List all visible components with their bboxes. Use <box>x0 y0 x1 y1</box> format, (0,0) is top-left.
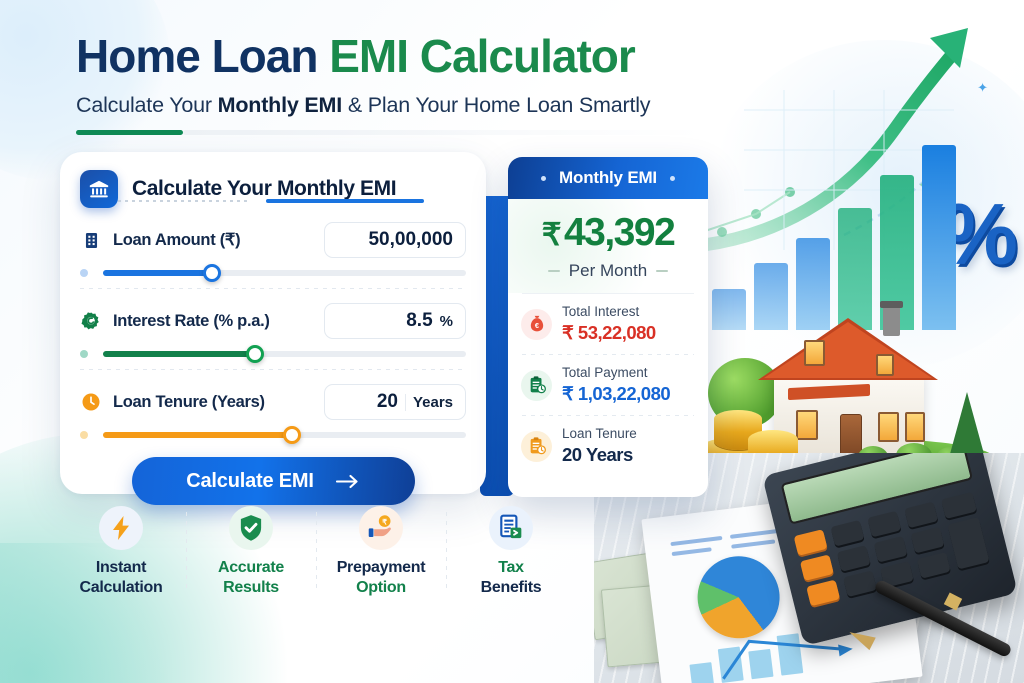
feature-list: Instant Calculation Accurate Results ₹ <box>56 506 576 598</box>
feature-label-line2: Benefits <box>446 578 576 598</box>
slider-thumb[interactable] <box>246 345 264 363</box>
result-row-total-payment: Total Payment ₹ 1,03,22,080 <box>508 355 708 415</box>
poster-canvas: ✦ ✦ % <box>0 0 1024 683</box>
slider-start-dot <box>80 269 88 277</box>
loan-tenure-unit: Years <box>405 394 453 411</box>
results-header: Monthly EMI <box>508 157 708 199</box>
results-header-title: Monthly EMI <box>559 168 657 188</box>
slider-fill <box>103 270 212 276</box>
subtitle-lead: Calculate Your <box>76 93 218 117</box>
feature-label-line1: Accurate <box>186 558 316 578</box>
page-title: Home Loan EMI Calculator <box>76 32 716 80</box>
building-icon <box>80 229 102 251</box>
money-bag-icon: € <box>521 309 552 340</box>
window-attic <box>804 340 825 366</box>
emi-caption: Per Month <box>508 261 708 281</box>
feature-label-line2: Calculation <box>56 578 186 598</box>
interest-rate-value: 8.5 <box>406 310 432 332</box>
slider-thumb[interactable] <box>203 264 221 282</box>
chimney <box>883 306 900 336</box>
window-right-1 <box>878 412 899 442</box>
interest-rate-unit: % <box>440 313 453 330</box>
field-label: Loan Tenure (Years) <box>113 393 265 412</box>
interest-rate-input[interactable]: 8.5 % <box>324 303 466 339</box>
bullet-dot-icon <box>670 176 675 181</box>
slider-start-dot <box>80 350 88 358</box>
loan-tenure-input[interactable]: 20 Years <box>324 384 466 420</box>
dash-left-icon <box>548 270 560 272</box>
chimney-cap <box>880 301 903 308</box>
loan-amount-value: 50,00,000 <box>368 229 453 251</box>
page-header: Home Loan EMI Calculator Calculate Your … <box>76 32 716 135</box>
clipboard-clock-icon <box>521 370 552 401</box>
clipboard-clock-icon <box>521 431 552 462</box>
calculate-emi-label: Calculate EMI <box>186 470 313 493</box>
feature-accurate-results[interactable]: Accurate Results <box>186 506 316 598</box>
slider-fill <box>103 351 255 357</box>
loan-amount-input[interactable]: 50,00,000 <box>324 222 466 258</box>
result-value: ₹ 1,03,22,080 <box>562 382 670 405</box>
page-subtitle: Calculate Your Monthly EMI & Plan Your H… <box>76 93 716 118</box>
window-right-2 <box>905 412 925 442</box>
arrow-right-icon <box>336 474 360 489</box>
result-value: ₹ 53,22,080 <box>562 321 656 344</box>
subtitle-emphasis: Monthly EMI <box>218 93 342 117</box>
hand-coin-icon: ₹ <box>359 506 403 550</box>
emi-amount: ₹43,392 <box>508 213 708 252</box>
card-title-underline <box>118 199 424 203</box>
result-row-total-interest: € Total Interest ₹ 53,22,080 <box>508 294 708 354</box>
feature-label-line1: Tax <box>446 558 576 578</box>
bullet-dot-icon <box>541 176 546 181</box>
emi-highlight: ₹43,392 Per Month <box>508 199 708 293</box>
field-loan-tenure: Loan Tenure (Years) 20 Years <box>60 384 486 439</box>
emi-caption-text: Per Month <box>569 261 647 281</box>
underline-solid <box>266 199 424 203</box>
slider-track[interactable] <box>103 432 466 438</box>
emi-calculator-card: Calculate Your Monthly EMI Loan Amount (… <box>60 152 486 494</box>
house-roof <box>764 322 932 378</box>
emi-amount-value: 43,392 <box>564 211 674 254</box>
field-loan-amount: Loan Amount (₹) 50,00,000 <box>60 222 486 277</box>
field-interest-rate: Interest Rate (% p.a.) 8.5 % <box>60 303 486 358</box>
interest-rate-slider[interactable] <box>80 350 466 358</box>
rupee-symbol: ₹ <box>542 217 564 252</box>
pie-chart <box>693 552 784 643</box>
result-value: 20 Years <box>562 443 637 466</box>
tax-doc-icon <box>489 506 533 550</box>
field-label: Loan Amount (₹) <box>113 230 240 250</box>
header-accent-rule <box>76 130 183 135</box>
page-title-primary: Home Loan <box>76 30 329 82</box>
results-card: Monthly EMI ₹43,392 Per Month € Tota <box>508 157 708 497</box>
loan-amount-slider[interactable] <box>80 269 466 277</box>
field-label: Interest Rate (% p.a.) <box>113 312 270 331</box>
feature-label-line2: Option <box>316 578 446 598</box>
window-left <box>796 410 818 440</box>
feature-prepayment-option[interactable]: ₹ Prepayment Option <box>316 506 446 598</box>
result-label: Loan Tenure <box>562 426 637 443</box>
slider-start-dot <box>80 431 88 439</box>
conifer-tree <box>950 392 984 454</box>
loan-tenure-slider[interactable] <box>80 431 466 439</box>
lightning-icon <box>99 506 143 550</box>
feature-label-line1: Prepayment <box>316 558 446 578</box>
bank-icon <box>80 170 118 208</box>
front-door <box>840 414 862 456</box>
calculate-emi-button[interactable]: Calculate EMI <box>132 457 415 505</box>
feature-instant-calculation[interactable]: Instant Calculation <box>56 506 186 598</box>
feature-label-line1: Instant <box>56 558 186 578</box>
header-rule-fade <box>183 130 703 135</box>
page-title-accent: EMI Calculator <box>329 30 635 82</box>
clock-icon <box>80 391 102 413</box>
svg-text:₹: ₹ <box>382 517 387 526</box>
dash-right-icon <box>656 270 668 272</box>
slider-track[interactable] <box>103 270 466 276</box>
shield-check-icon <box>229 506 273 550</box>
feature-tax-benefits[interactable]: Tax Benefits <box>446 506 576 598</box>
card-title: Calculate Your Monthly EMI <box>132 177 396 201</box>
result-label: Total Interest <box>562 304 656 321</box>
sparkle-icon: ✦ <box>977 80 988 96</box>
subtitle-tail: & Plan Your Home Loan Smartly <box>342 93 650 117</box>
loan-tenure-value: 20 <box>377 391 398 413</box>
result-label: Total Payment <box>562 365 670 382</box>
percent-gear-icon <box>80 310 102 332</box>
window-dormer <box>876 354 894 376</box>
field-divider <box>80 288 466 289</box>
result-row-loan-tenure: Loan Tenure 20 Years <box>508 416 708 476</box>
slider-fill <box>103 432 292 438</box>
underline-dots <box>118 200 248 202</box>
slider-track[interactable] <box>103 351 466 357</box>
feature-label-line2: Results <box>186 578 316 598</box>
slider-thumb[interactable] <box>283 426 301 444</box>
field-divider <box>80 369 466 370</box>
